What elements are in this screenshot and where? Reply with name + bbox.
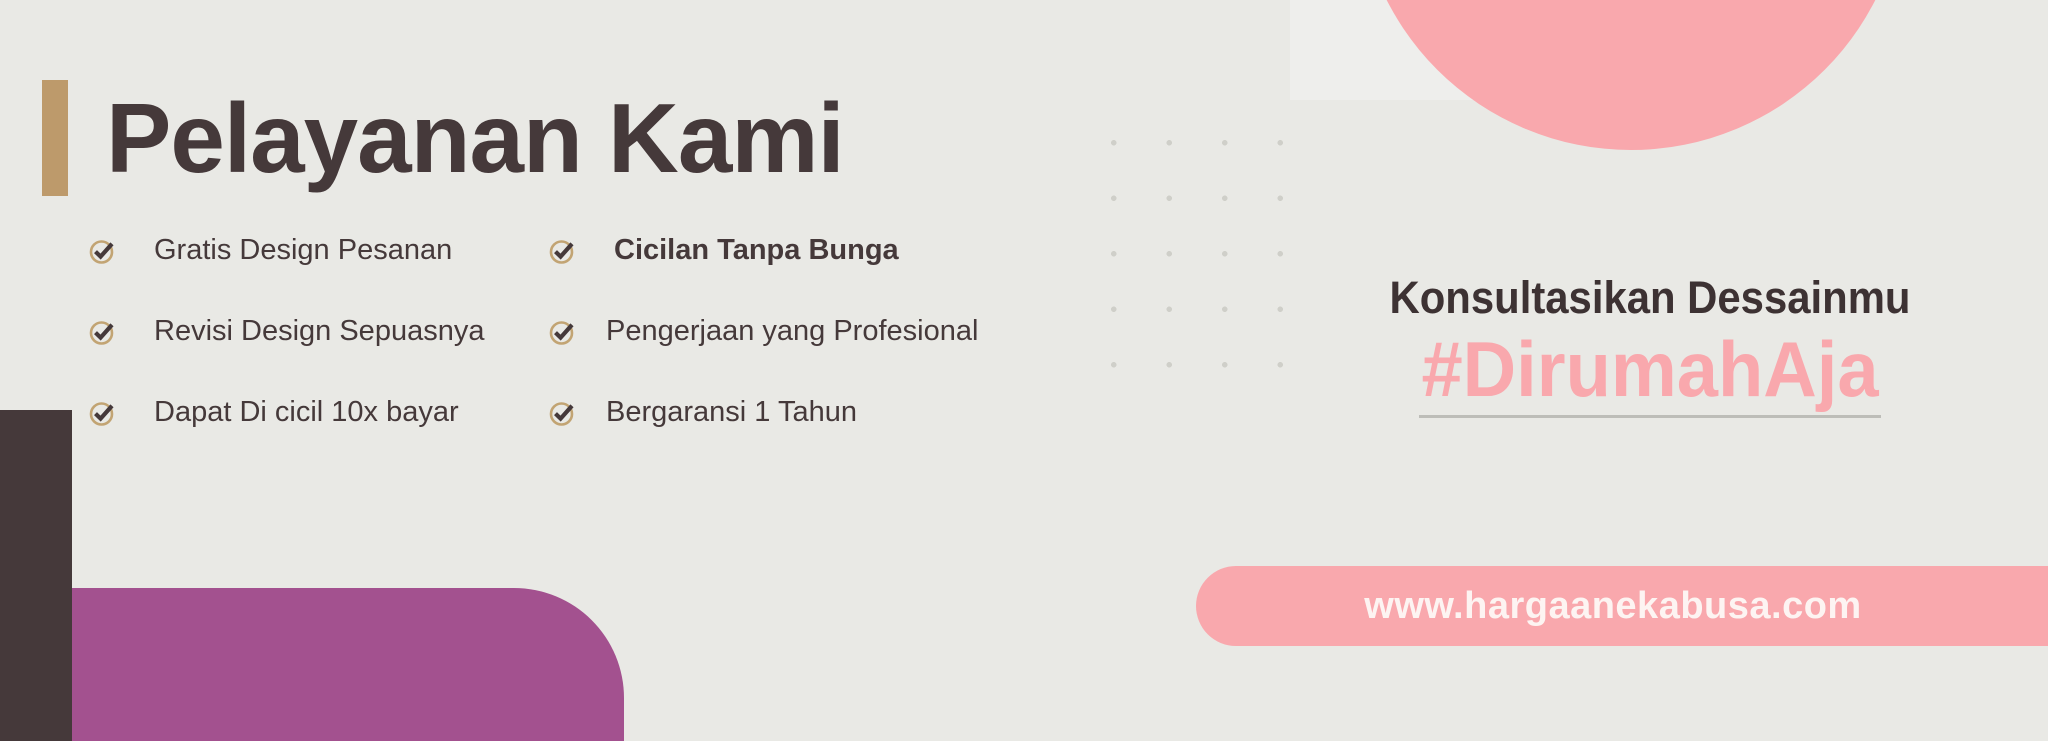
website-url[interactable]: www.hargaanekabusa.com xyxy=(1364,585,1861,628)
features-column-1: Gratis Design Pesanan Revisi Design Sepu… xyxy=(88,210,548,453)
promo-hashtag: #DirumahAja xyxy=(1318,329,1983,411)
purple-shape-decoration xyxy=(72,588,624,741)
list-item-label: Cicilan Tanpa Bunga xyxy=(614,234,899,267)
features-list: Gratis Design Pesanan Revisi Design Sepu… xyxy=(88,210,1018,453)
list-item: Dapat Di cicil 10x bayar xyxy=(88,372,548,453)
features-column-2: Cicilan Tanpa Bunga Pengerjaan yang Prof… xyxy=(548,210,1018,453)
website-bar: www.hargaanekabusa.com xyxy=(1196,566,2048,646)
promo-headline: Konsultasikan Dessainmu xyxy=(1325,274,1976,321)
promo-block: Konsultasikan Dessainmu #DirumahAja xyxy=(1300,274,2000,418)
dot-grid-decoration xyxy=(1082,110,1287,368)
page-heading: Pelayanan Kami xyxy=(42,80,844,196)
check-circle-icon xyxy=(548,317,578,347)
check-circle-icon xyxy=(88,398,118,428)
page-title: Pelayanan Kami xyxy=(106,89,844,187)
accent-bar xyxy=(42,80,68,196)
check-circle-icon xyxy=(548,236,578,266)
list-item-label: Gratis Design Pesanan xyxy=(154,234,452,267)
list-item: Bergaransi 1 Tahun xyxy=(548,372,1018,453)
check-circle-icon xyxy=(88,317,118,347)
list-item: Gratis Design Pesanan xyxy=(88,210,548,291)
list-item-label: Dapat Di cicil 10x bayar xyxy=(154,396,459,429)
list-item-label: Revisi Design Sepuasnya xyxy=(154,315,484,348)
check-circle-icon xyxy=(88,236,118,266)
promo-underline xyxy=(1419,415,1881,418)
list-item: Revisi Design Sepuasnya xyxy=(88,291,548,372)
check-circle-icon xyxy=(548,398,578,428)
list-item: Pengerjaan yang Profesional xyxy=(548,291,1018,372)
list-item-label: Bergaransi 1 Tahun xyxy=(606,396,857,429)
services-banner: Pelayanan Kami Gratis Design Pesanan xyxy=(0,0,2048,741)
dark-rectangle-decoration xyxy=(0,410,72,741)
list-item: Cicilan Tanpa Bunga xyxy=(548,210,1018,291)
list-item-label: Pengerjaan yang Profesional xyxy=(606,315,978,348)
